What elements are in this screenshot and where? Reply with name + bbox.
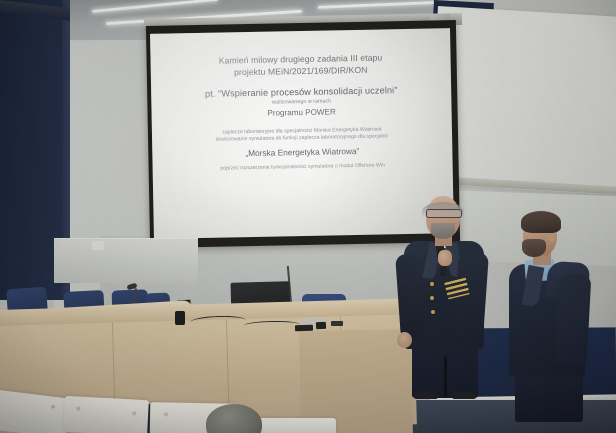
seat-fastener: [76, 406, 80, 410]
conference-room-photo: Kamień milowy drugiego zadania III etapu…: [0, 0, 616, 433]
officer-hand-holding-mic: [438, 250, 452, 266]
seat-fastener: [164, 412, 168, 416]
officer-shoe: [414, 392, 438, 399]
seat-fastener: [51, 405, 55, 409]
officer-left-hand: [397, 332, 412, 348]
uniform-button: [431, 310, 435, 314]
officer-beard: [431, 223, 455, 239]
glasses-icon: [426, 209, 462, 218]
colleague-arm: [555, 273, 592, 367]
navy-column-top: [0, 0, 70, 21]
slide-text-block: Kamień milowy drugiego zadania III etapu…: [150, 50, 452, 174]
colleague-beard: [522, 239, 546, 257]
uniform-button: [430, 296, 434, 300]
colleague-hair: [521, 211, 561, 233]
wall-knob: [92, 241, 104, 250]
officer-shoe: [452, 392, 476, 399]
colleague-legs: [515, 370, 583, 422]
auditorium-seat-back: [63, 396, 149, 433]
person-speaker-officer: [398, 196, 506, 396]
seat-fastener: [132, 411, 136, 415]
desk-device: [331, 321, 343, 326]
person-colleague-suit: [503, 214, 599, 414]
desk-device: [316, 322, 326, 329]
webcam-device: [175, 311, 185, 325]
uniform-button: [430, 282, 434, 286]
wall-bumper-rail: [54, 238, 198, 283]
officer-leg-gap: [444, 356, 447, 398]
